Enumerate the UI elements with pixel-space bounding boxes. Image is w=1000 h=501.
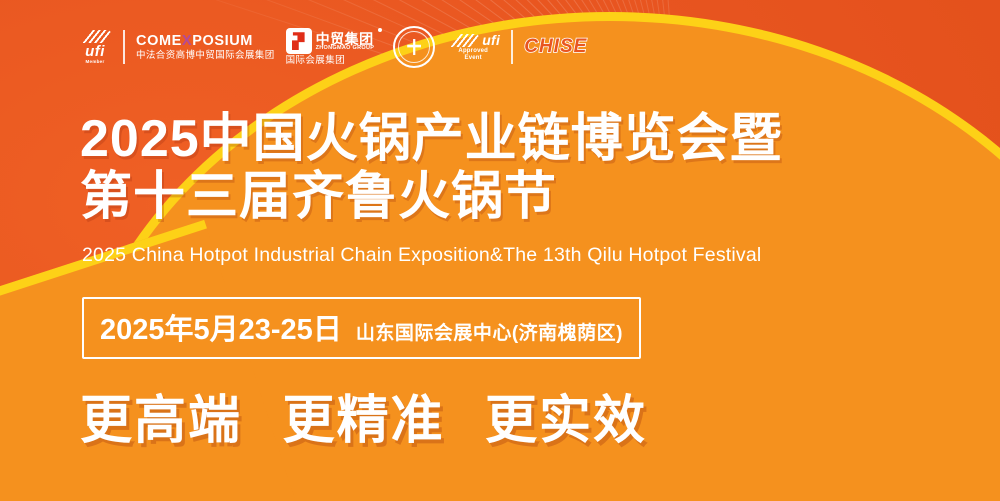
event-title-english: 2025 China Hotpot Industrial Chain Expos… bbox=[82, 244, 761, 267]
slogan-part-3: 更实效 bbox=[485, 392, 647, 450]
comexposium-word-left: COME bbox=[136, 33, 182, 49]
event-title-line2: 第十三届齐鲁火锅节 bbox=[80, 168, 920, 226]
zhongmao-group-logo: 中贸集团 ZHONGMAO GROUP 国际会展集团 bbox=[286, 28, 383, 66]
ufi-approved-sub1: Approved bbox=[458, 48, 488, 54]
date-venue-box: 2025年5月23-25日 山东国际会展中心(济南槐荫区) bbox=[82, 297, 641, 359]
zhongmao-subtitle: 国际会展集团 bbox=[286, 56, 383, 66]
event-date: 2025年5月23-25日 bbox=[100, 306, 342, 348]
logo-divider bbox=[123, 30, 125, 64]
ufi-member-sub: Member bbox=[85, 60, 104, 65]
chise-logo: CHISE bbox=[524, 36, 587, 58]
comexposium-chinese-name: 中法合资高博中贸国际会展集团 bbox=[136, 51, 275, 61]
ufi-approved-row: ufi bbox=[446, 33, 500, 47]
zhongmao-top-row: 中贸集团 ZHONGMAO GROUP bbox=[286, 28, 383, 54]
slogan-part-1: 更高端 bbox=[80, 392, 242, 450]
event-slogan: 更高端 更精准 更实效 bbox=[80, 378, 647, 453]
event-title-line1: 2025中国火锅产业链博览会暨 bbox=[80, 110, 783, 168]
partner-logo-bar: ufi Member COMEXPOSIUM 中法合资高博中贸国际会展集团 中贸… bbox=[78, 24, 587, 70]
event-venue: 山东国际会展中心(济南槐荫区) bbox=[356, 318, 623, 345]
comexposium-x-glyph: X bbox=[182, 33, 192, 49]
slogan-part-2: 更精准 bbox=[282, 392, 444, 450]
zhongmao-emblem-icon bbox=[286, 28, 312, 54]
ufi-wing-icon bbox=[76, 30, 114, 43]
comexposium-word-right: POSIUM bbox=[192, 33, 253, 49]
ufi-approved-wing-icon bbox=[444, 34, 482, 47]
event-title-chinese: 2025中国火锅产业链博览会暨 第十三届齐鲁火锅节 bbox=[80, 110, 920, 226]
shandong-seal-logo bbox=[393, 26, 435, 68]
zhongmao-chinese: 中贸集团 bbox=[316, 32, 375, 46]
zhongmao-english: ZHONGMAO GROUP bbox=[316, 46, 375, 52]
ufi-approved-event-logo: ufi Approved Event bbox=[446, 33, 500, 61]
zhongmao-dot-icon bbox=[378, 28, 382, 32]
shandong-shan-glyph-icon bbox=[407, 39, 421, 55]
ufi-member-logo: ufi Member bbox=[78, 30, 112, 65]
zhongmao-text-block: 中贸集团 ZHONGMAO GROUP bbox=[316, 32, 375, 52]
event-banner: ufi Member COMEXPOSIUM 中法合资高博中贸国际会展集团 中贸… bbox=[0, 0, 1000, 501]
ufi-approved-sub2: Event bbox=[465, 55, 482, 61]
logo-divider bbox=[511, 30, 513, 64]
comexposium-logo: COMEXPOSIUM 中法合资高博中贸国际会展集团 bbox=[136, 34, 275, 61]
comexposium-wordmark: COMEXPOSIUM bbox=[136, 34, 275, 49]
ufi-approved-word: ufi bbox=[482, 33, 500, 47]
ufi-member-word: ufi bbox=[85, 44, 105, 59]
